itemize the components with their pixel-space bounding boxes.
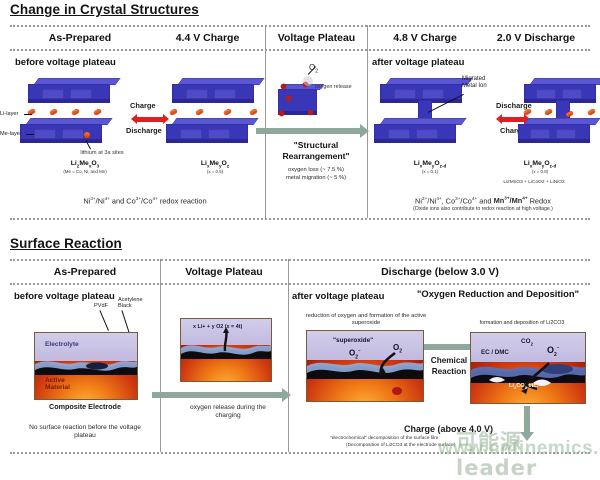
lithium-ion — [195, 109, 203, 116]
label-acetylene-black: AcetyleneBlack — [118, 297, 152, 310]
label-o2-minus: O2– — [349, 348, 361, 360]
crystal-slab-b-upper — [172, 78, 262, 106]
label-pvdf: PVdF — [94, 303, 108, 309]
oxygen-atom — [279, 111, 284, 116]
note-formation-deposition: formation and deposition of Li2CO3 — [452, 320, 592, 327]
pointer-li-layer — [24, 114, 32, 115]
composite-electrode-as-prepared: Electrolyte ActiveMaterial — [34, 332, 138, 400]
composite-electrode-superoxide: "superoxide" O2– O2 — [306, 330, 424, 402]
crystal-slab-a-upper — [28, 78, 118, 106]
subhead-after-plateau-crystal: after voltage plateau — [372, 57, 464, 68]
lithium-ion — [71, 109, 79, 116]
section-title-surface-reaction: Surface Reaction — [10, 236, 122, 251]
arrow-structural-rearrangement — [256, 128, 360, 134]
arrow-charge-discharge — [137, 117, 163, 122]
pointer-me-layer — [26, 134, 34, 135]
redox-note-right: Ni2+/Ni4+, Co3+/Co4+ and Mn3+/Mn4+ Redox — [370, 196, 596, 206]
formula-note-x09: (x = 0.9) — [490, 169, 590, 174]
arrow-chemical-reaction — [424, 344, 470, 350]
quote-structural-rearrangement: "Structural Rearrangement" — [266, 140, 366, 162]
note-decomposition-li2co3: (Decomposition of Li2CO3 at the electrod… — [346, 443, 546, 449]
divider-under-columns — [10, 49, 590, 51]
label-electrolyte: Electrolyte — [45, 341, 79, 348]
label-migrated-metal-ion: MigratedMetal Ion — [462, 76, 506, 90]
column-header-20v-discharge: 2.0 V Discharge — [482, 32, 590, 44]
arrow-oxygen-release — [152, 392, 282, 398]
formula-note-me-elements: (Me = Co, Ni, and Mn) — [30, 169, 140, 174]
crystal-slab-d-lower — [518, 118, 598, 146]
subhead-after-plateau-surface: after voltage plateau — [292, 291, 384, 302]
label-o2: O2 — [393, 343, 402, 355]
lithium-ion — [249, 109, 257, 116]
label-co2: CO2 — [521, 338, 533, 346]
crystal-slab-b-lower — [166, 118, 256, 146]
formula-right-2: LixMeyOz-d — [490, 160, 590, 168]
label-charge-above-4v: Charge (above 4.0 V) — [404, 424, 524, 435]
divider-surface-under-columns — [10, 283, 590, 285]
note-reduction-superoxide: reduction of oxygen and formation of the… — [296, 313, 436, 327]
label-ec-dmc: EC / DMC — [481, 349, 509, 356]
pointer-acetylene-black — [122, 310, 130, 333]
column-header-surface-voltage-plateau: Voltage Plateau — [162, 266, 286, 278]
composite-electrode-plateau: x Li+ + y O2 (x = 4t) — [180, 318, 272, 382]
redox-note-left: Ni3+/Ni4+ and Co3+/Co4+ redox reaction — [30, 196, 260, 206]
formula-li2meo3: Li2MexO3 — [30, 160, 140, 168]
crystal-slab-c-lower — [374, 118, 464, 146]
oxygen-atom — [308, 110, 313, 115]
subhead-before-plateau-crystal: before voltage plateau — [15, 57, 116, 68]
column-header-as-prepared: As-Prepared — [15, 32, 145, 44]
divider-surface-v2 — [288, 259, 289, 452]
column-header-surface-as-prepared: As-Prepared — [14, 266, 156, 278]
note-metal-migration: metal migration (~ 5 %) — [266, 175, 366, 182]
lithium-ion — [93, 109, 101, 116]
divider-surface-v1 — [160, 259, 161, 452]
lithium-ion — [223, 109, 231, 116]
label-active-material: ActiveMaterial — [45, 377, 70, 392]
composite-electrode-deposition: EC / DMC CO2 O2– Li2CO3 etc. — [470, 332, 586, 404]
column-header-44v-charge: 4.4 V Charge — [150, 32, 265, 44]
note-oxygen-release-charging: oxygen release during the charging — [178, 404, 278, 420]
lithium-ion — [587, 109, 595, 116]
formula-right-3: Li2MnO3 + LiCoO2 + LiNiO2 — [470, 180, 598, 186]
note-oxygen-loss: oxygen loss (~ 7.5 %) — [266, 167, 366, 174]
divider-surface-top — [10, 259, 590, 261]
divider-surface-bottom — [10, 452, 590, 454]
crystal-slab-a-lower — [20, 118, 110, 146]
label-li-layer: Li-layer — [0, 111, 18, 117]
column-header-surface-discharge: Discharge (below 3.0 V) — [290, 266, 590, 278]
lithium-ion — [544, 109, 552, 116]
lithium-ion-3a-site — [84, 132, 90, 138]
label-o2-minus-deposition: O2– — [547, 345, 559, 358]
note-electrochemical-decomposition: "electrochemical" decomposition of the s… — [330, 436, 530, 442]
caption-composite-electrode: Composite Electrode — [34, 402, 136, 411]
oxygen-atom — [286, 96, 291, 101]
note-no-surface-reaction: No surface reaction before the voltage p… — [20, 424, 150, 440]
arrow-charge-decomposition — [524, 406, 530, 432]
oxygen-atom — [281, 84, 286, 89]
formula-note-x05: (x = 0.5) — [165, 169, 265, 174]
lithium-ion — [49, 109, 57, 116]
quote-oxygen-reduction-deposition: "Oxygen Reduction and Deposition" — [400, 288, 596, 300]
oxygen-release-bubble — [303, 76, 313, 86]
formula-right-1: LixMeyOz-d — [380, 160, 480, 168]
label-discharge: Discharge — [126, 126, 162, 135]
divider-vertical-right — [367, 25, 368, 218]
label-me-layer: Me-layer — [0, 131, 22, 137]
label-li2co3-etc: Li2CO3 etc. — [509, 383, 538, 390]
formula-note-x01: (x = 0.1) — [380, 169, 480, 174]
label-oxygen-release: oxygen release — [315, 84, 361, 90]
column-header-48v-charge: 4.8 V Charge — [370, 32, 480, 44]
divider-section-bottom — [10, 218, 590, 220]
label-superoxide: "superoxide" — [333, 337, 373, 344]
section-title-crystal-structures: Change in Crystal Structures — [10, 2, 199, 17]
subhead-before-plateau-surface: before voltage plateau — [14, 291, 115, 302]
divider-top — [10, 25, 590, 27]
column-header-voltage-plateau: Voltage Plateau — [267, 32, 366, 44]
label-charge: Charge — [130, 101, 155, 110]
formula-lixmeyoz: LixMeyOz — [165, 160, 265, 168]
lithium-ion — [169, 109, 177, 116]
redox-subnote-right: (Oxide ions also contribute to redox rea… — [370, 206, 596, 212]
label-lithium-3a-sites: lithium at 3a sites — [62, 150, 142, 157]
divider-vertical-left — [265, 25, 266, 218]
equation-oxygen-release: x Li+ + y O2 (x = 4t) — [193, 324, 242, 330]
pointer-pvdf — [100, 310, 109, 331]
